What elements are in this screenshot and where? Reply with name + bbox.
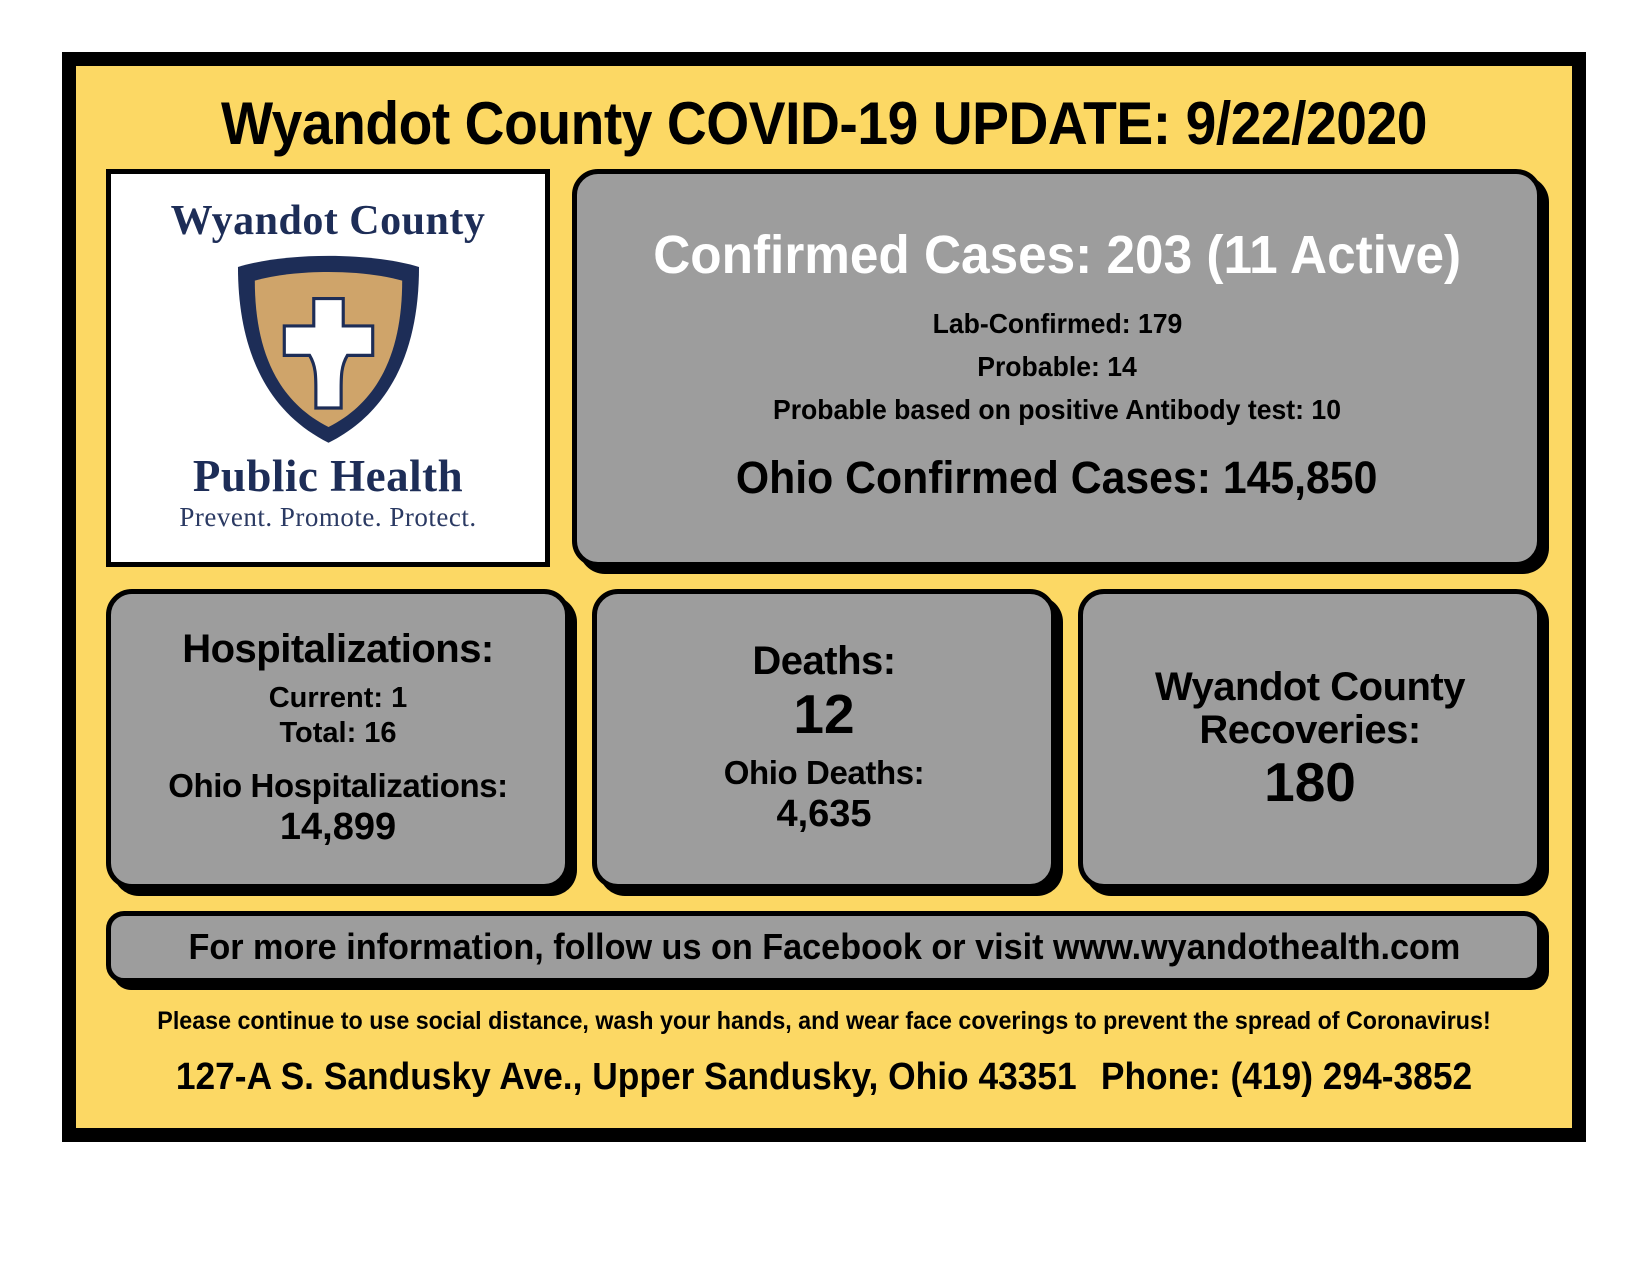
ohio-deaths-label: Ohio Deaths: [724, 754, 925, 792]
recoveries-heading-line2: Recoveries: [1199, 709, 1420, 752]
ohio-confirmed-cases: Ohio Confirmed Cases: 145,850 [736, 452, 1377, 504]
recoveries-panel: Wyandot County Recoveries: 180 [1078, 589, 1542, 889]
logo-bottom-text: Public Health [193, 454, 463, 499]
hospitalizations-current: Current: 1 [269, 681, 408, 716]
poster-frame: Wyandot County COVID-19 UPDATE: 9/22/202… [62, 52, 1586, 1142]
ohio-deaths-value: 4,635 [776, 792, 871, 838]
shield-icon [221, 248, 436, 448]
hospitalizations-heading: Hospitalizations: [182, 628, 494, 671]
recoveries-heading-line1: Wyandot County [1155, 666, 1465, 709]
more-info-bar[interactable]: For more information, follow us on Faceb… [106, 911, 1542, 983]
recoveries-value: 180 [1264, 752, 1356, 813]
hospitalizations-panel: Hospitalizations: Current: 1 Total: 16 O… [106, 589, 570, 889]
poster-inner: Wyandot County COVID-19 UPDATE: 9/22/202… [76, 66, 1572, 1128]
lab-confirmed-value: Lab-Confirmed: 179 [932, 302, 1182, 345]
ohio-hospitalizations-value: 14,899 [280, 805, 396, 851]
deaths-heading: Deaths: [752, 640, 895, 683]
top-row: Wyandot County Public Health Prevent. Pr… [106, 169, 1542, 567]
more-info-text: For more information, follow us on Faceb… [188, 926, 1460, 968]
phone-text: Phone: (419) 294-3852 [1101, 1056, 1472, 1098]
contact-line: 127-A S. Sandusky Ave., Upper Sandusky, … [156, 1056, 1491, 1099]
address-text: 127-A S. Sandusky Ave., Upper Sandusky, … [176, 1056, 979, 1098]
agency-logo: Wyandot County Public Health Prevent. Pr… [106, 169, 550, 567]
confirmed-cases-headline: Confirmed Cases: 203 (11 Active) [653, 226, 1461, 285]
confirmed-cases-panel: Confirmed Cases: 203 (11 Active) Lab-Con… [572, 169, 1542, 567]
ohio-hospitalizations-label: Ohio Hospitalizations: [168, 767, 508, 805]
safety-note: Please continue to use social distance, … [156, 1007, 1491, 1036]
deaths-panel: Deaths: 12 Ohio Deaths: 4,635 [592, 589, 1056, 889]
logo-tagline: Prevent. Promote. Protect. [179, 503, 476, 531]
address-zip: 43351 [978, 1056, 1076, 1098]
probable-antibody-value: Probable based on positive Antibody test… [773, 388, 1341, 431]
stats-row: Hospitalizations: Current: 1 Total: 16 O… [106, 589, 1542, 889]
hospitalizations-total: Total: 16 [279, 716, 396, 751]
probable-value: Probable: 14 [977, 345, 1137, 388]
logo-top-text: Wyandot County [171, 200, 486, 242]
page-title: Wyandot County COVID-19 UPDATE: 9/22/202… [163, 92, 1484, 155]
deaths-value: 12 [793, 684, 854, 745]
